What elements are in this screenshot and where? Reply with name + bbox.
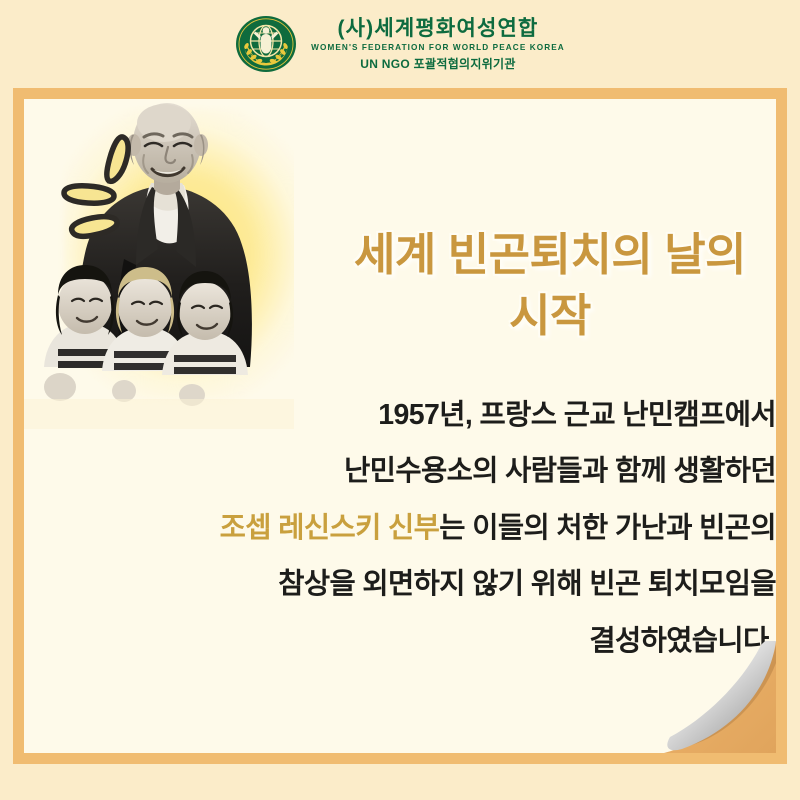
body-line: 난민수용소의 사람들과 함께 생활하던: [54, 443, 776, 499]
photo-zone: [24, 99, 294, 429]
highlighted-name: 조셉 레신스키 신부: [220, 512, 440, 544]
org-identity-block: (사)세계평화여성연합 WOMEN'S FEDERATION FOR WORLD…: [311, 18, 565, 70]
body-text: 결성하였습니다.: [589, 625, 776, 657]
body-text: 1957년, 프랑스 근교 난민캠프에서: [378, 399, 776, 431]
body-copy: 1957년, 프랑스 근교 난민캠프에서 난민수용소의 사람들과 함께 생활하던…: [54, 387, 776, 669]
body-text: 난민수용소의 사람들과 함께 생활하던: [344, 455, 776, 487]
body-text: 는 이들의 처한 가난과 빈곤의: [439, 512, 776, 544]
poster-card: (사)세계평화여성연합 WOMEN'S FEDERATION FOR WORLD…: [0, 0, 800, 800]
un-status-label: UN NGO 포괄적협의지위기관: [360, 58, 516, 70]
body-line: 참상을 외면하지 않기 위해 빈곤 퇴치모임을: [54, 556, 776, 612]
body-line: 조셉 레신스키 신부는 이들의 처한 가난과 빈곤의: [54, 500, 776, 556]
body-line: 1957년, 프랑스 근교 난민캠프에서: [54, 387, 776, 443]
org-name-en: WOMEN'S FEDERATION FOR WORLD PEACE KOREA: [311, 44, 565, 52]
sparkle-burst-icon: [60, 131, 175, 261]
body-line: 결성하였습니다.: [54, 613, 776, 669]
content-panel: 세계 빈곤퇴치의 날의 시작 1957년, 프랑스 근교 난민캠프에서 난민수용…: [24, 99, 776, 753]
page-title: 세계 빈곤퇴치의 날의 시작: [324, 225, 776, 347]
body-text: 참상을 외면하지 않기 위해 빈곤 퇴치모임을: [278, 568, 776, 600]
globe-laurel-logo-icon: [235, 15, 297, 73]
org-name-kr: (사)세계평화여성연합: [337, 18, 538, 39]
content-frame: 세계 빈곤퇴치의 날의 시작 1957년, 프랑스 근교 난민캠프에서 난민수용…: [13, 88, 787, 764]
header-logo-bar: (사)세계평화여성연합 WOMEN'S FEDERATION FOR WORLD…: [0, 0, 800, 88]
